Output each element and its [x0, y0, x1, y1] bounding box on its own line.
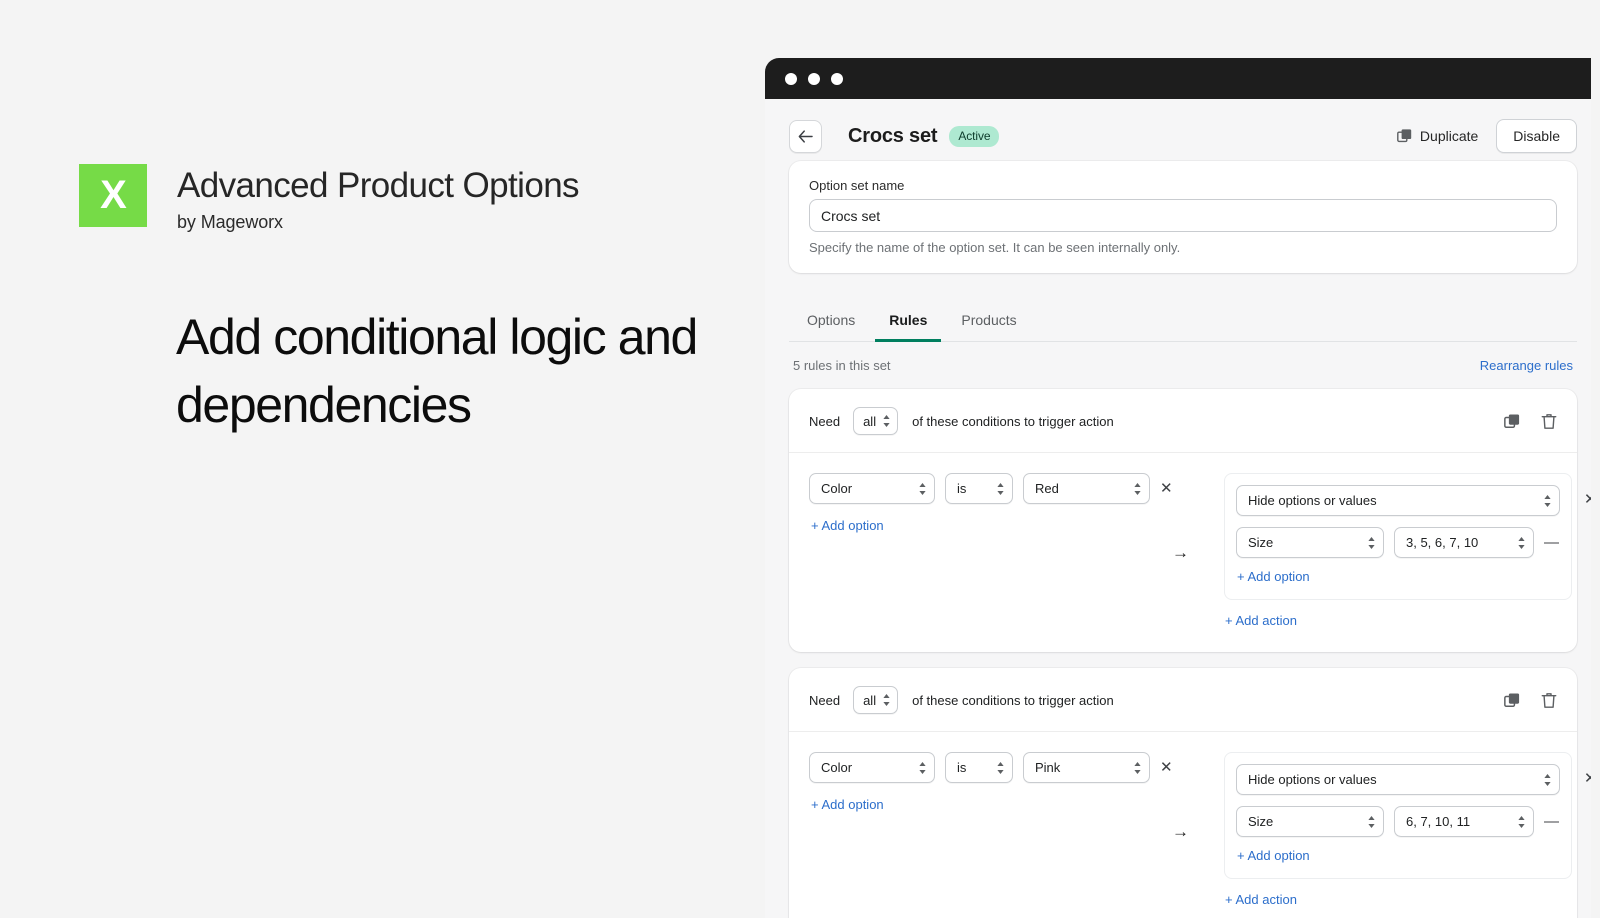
action-values-select[interactable]: 6, 7, 10, 11: [1394, 806, 1534, 837]
action-target-row: Size 6, 7, 10, 11: [1236, 806, 1560, 837]
stepper-icon: [996, 761, 1005, 775]
need-label: Need: [809, 693, 840, 708]
need-label: Need: [809, 414, 840, 429]
action-type-select[interactable]: Hide options or values: [1236, 485, 1560, 516]
duplicate-button[interactable]: Duplicate: [1397, 128, 1478, 144]
condition-option-value: Color: [821, 481, 852, 496]
stepper-icon: [918, 482, 927, 496]
close-dot-icon[interactable]: [785, 73, 797, 85]
condition-value-select[interactable]: Red: [1023, 473, 1150, 504]
stepper-icon: [1133, 761, 1142, 775]
disable-button[interactable]: Disable: [1496, 119, 1577, 153]
stepper-icon: [918, 761, 927, 775]
action-values-select[interactable]: 3, 5, 6, 7, 10: [1394, 527, 1534, 558]
window-titlebar: [765, 58, 1591, 99]
condition-operator-select[interactable]: is: [945, 473, 1013, 504]
remove-action-button[interactable]: ✕: [1584, 771, 1591, 786]
condition-value-text: Red: [1035, 481, 1059, 496]
option-set-name-help: Specify the name of the option set. It c…: [809, 240, 1557, 255]
trash-icon: [1541, 413, 1557, 430]
action-target-value: Size: [1248, 814, 1273, 829]
rule-arrow-icon: →: [1172, 453, 1189, 652]
conditions-tail-label: of these conditions to trigger action: [912, 414, 1114, 429]
add-condition-option-link[interactable]: + Add option: [811, 518, 884, 533]
mageworx-logo: X: [79, 164, 147, 227]
promo-headline: Add conditional logic and dependencies: [176, 303, 736, 439]
action-target-select[interactable]: Size: [1236, 527, 1384, 558]
duplicate-rule-button[interactable]: [1504, 692, 1521, 709]
condition-option-value: Color: [821, 760, 852, 775]
brand-title: Advanced Product Options: [177, 166, 579, 205]
condition-operator-select[interactable]: is: [945, 752, 1013, 783]
stepper-icon: [996, 482, 1005, 496]
rule-card: Need all of these conditions to trigger …: [789, 389, 1577, 652]
conditions-column: Color is Pink: [809, 752, 1174, 909]
rules-meta: 5 rules in this set Rearrange rules: [789, 358, 1577, 373]
minimize-dot-icon[interactable]: [808, 73, 820, 85]
maximize-dot-icon[interactable]: [831, 73, 843, 85]
app-body: Crocs set Active Duplicate Disable Optio…: [771, 99, 1591, 918]
condition-value-select[interactable]: Pink: [1023, 752, 1150, 783]
rule-match-select[interactable]: all: [853, 686, 898, 714]
condition-row: Color is Pink: [809, 752, 1174, 783]
copy-icon: [1504, 413, 1521, 430]
remove-condition-button[interactable]: ✕: [1160, 760, 1173, 775]
app-window: Crocs set Active Duplicate Disable Optio…: [765, 58, 1591, 918]
option-set-name-label: Option set name: [809, 178, 1557, 193]
duplicate-label: Duplicate: [1420, 128, 1478, 144]
action-type-value: Hide options or values: [1248, 772, 1377, 787]
condition-option-select[interactable]: Color: [809, 752, 935, 783]
trash-icon: [1541, 692, 1557, 709]
stepper-icon: [1367, 815, 1376, 829]
remove-condition-button[interactable]: ✕: [1160, 481, 1173, 496]
action-values-text: 3, 5, 6, 7, 10: [1406, 535, 1478, 550]
conditions-tail-label: of these conditions to trigger action: [912, 693, 1114, 708]
option-set-name-card: Option set name Specify the name of the …: [789, 161, 1577, 273]
promo-panel: X Advanced Product Options by Mageworx A…: [0, 0, 765, 900]
condition-operator-value: is: [957, 760, 966, 775]
condition-operator-value: is: [957, 481, 966, 496]
action-box: Hide options or values Size: [1224, 473, 1572, 600]
action-box: Hide options or values Size: [1224, 752, 1572, 879]
rule-header: Need all of these conditions to trigger …: [789, 389, 1577, 453]
rule-header-icons: [1504, 413, 1557, 430]
stepper-icon: [1133, 482, 1142, 496]
add-action-option-link[interactable]: + Add option: [1237, 848, 1310, 863]
action-type-select[interactable]: Hide options or values: [1236, 764, 1560, 795]
delete-rule-button[interactable]: [1541, 692, 1557, 709]
remove-action-button[interactable]: ✕: [1584, 492, 1591, 507]
add-action-link[interactable]: + Add action: [1225, 613, 1297, 628]
rule-arrow-icon: →: [1172, 732, 1189, 918]
actions-column: Hide options or values Size: [1224, 473, 1591, 630]
action-type-value: Hide options or values: [1248, 493, 1377, 508]
action-target-value: Size: [1248, 535, 1273, 550]
add-condition-option-link[interactable]: + Add option: [811, 797, 884, 812]
stepper-icon: [882, 414, 891, 428]
action-values-text: 6, 7, 10, 11: [1406, 814, 1470, 829]
tab-rules[interactable]: Rules: [875, 304, 941, 342]
rule-header-icons: [1504, 692, 1557, 709]
duplicate-rule-button[interactable]: [1504, 413, 1521, 430]
rule-header: Need all of these conditions to trigger …: [789, 668, 1577, 732]
copy-icon: [1504, 692, 1521, 709]
copy-icon: [1397, 128, 1413, 144]
rule-card: Need all of these conditions to trigger …: [789, 668, 1577, 918]
action-group: Hide options or values Size: [1224, 473, 1591, 600]
remove-action-target-button[interactable]: —: [1544, 535, 1559, 550]
arrow-left-icon: [798, 130, 813, 143]
tabs-section: Options Rules Products 5 rules in this s…: [789, 303, 1577, 373]
stepper-icon: [1543, 773, 1552, 787]
action-group: Hide options or values Size: [1224, 752, 1591, 879]
back-button[interactable]: [789, 120, 822, 153]
rules-count: 5 rules in this set: [793, 358, 891, 373]
action-target-row: Size 3, 5, 6, 7, 10: [1236, 527, 1560, 558]
rule-match-value: all: [863, 414, 876, 429]
actions-column: Hide options or values Size: [1224, 752, 1591, 909]
rule-body: Color is Pink: [789, 732, 1577, 918]
remove-action-target-button[interactable]: —: [1544, 814, 1559, 829]
rule-body: Color is Red: [789, 453, 1577, 652]
rule-match-select[interactable]: all: [853, 407, 898, 435]
stepper-icon: [1517, 536, 1526, 550]
stepper-icon: [882, 693, 891, 707]
rearrange-rules-link[interactable]: Rearrange rules: [1480, 358, 1573, 373]
condition-option-select[interactable]: Color: [809, 473, 935, 504]
condition-row: Color is Red: [809, 473, 1174, 504]
brand-subtitle: by Mageworx: [177, 212, 579, 233]
tab-products[interactable]: Products: [947, 304, 1030, 342]
action-target-select[interactable]: Size: [1236, 806, 1384, 837]
brand-text: Advanced Product Options by Mageworx: [177, 164, 579, 233]
brand-lockup: X Advanced Product Options by Mageworx: [79, 164, 579, 233]
add-action-option-link[interactable]: + Add option: [1237, 569, 1310, 584]
stepper-icon: [1517, 815, 1526, 829]
delete-rule-button[interactable]: [1541, 413, 1557, 430]
tab-list: Options Rules Products: [789, 303, 1577, 342]
header-actions: Duplicate Disable: [1397, 119, 1577, 153]
logo-letter: X: [100, 175, 126, 215]
option-set-name-input[interactable]: [809, 199, 1557, 232]
conditions-column: Color is Red: [809, 473, 1174, 630]
tab-options[interactable]: Options: [793, 304, 869, 342]
condition-value-text: Pink: [1035, 760, 1060, 775]
status-badge: Active: [949, 126, 999, 147]
page-title: Crocs set: [848, 125, 937, 148]
stepper-icon: [1543, 494, 1552, 508]
page-header: Crocs set Active Duplicate Disable: [789, 99, 1577, 161]
stepper-icon: [1367, 536, 1376, 550]
rule-match-value: all: [863, 693, 876, 708]
